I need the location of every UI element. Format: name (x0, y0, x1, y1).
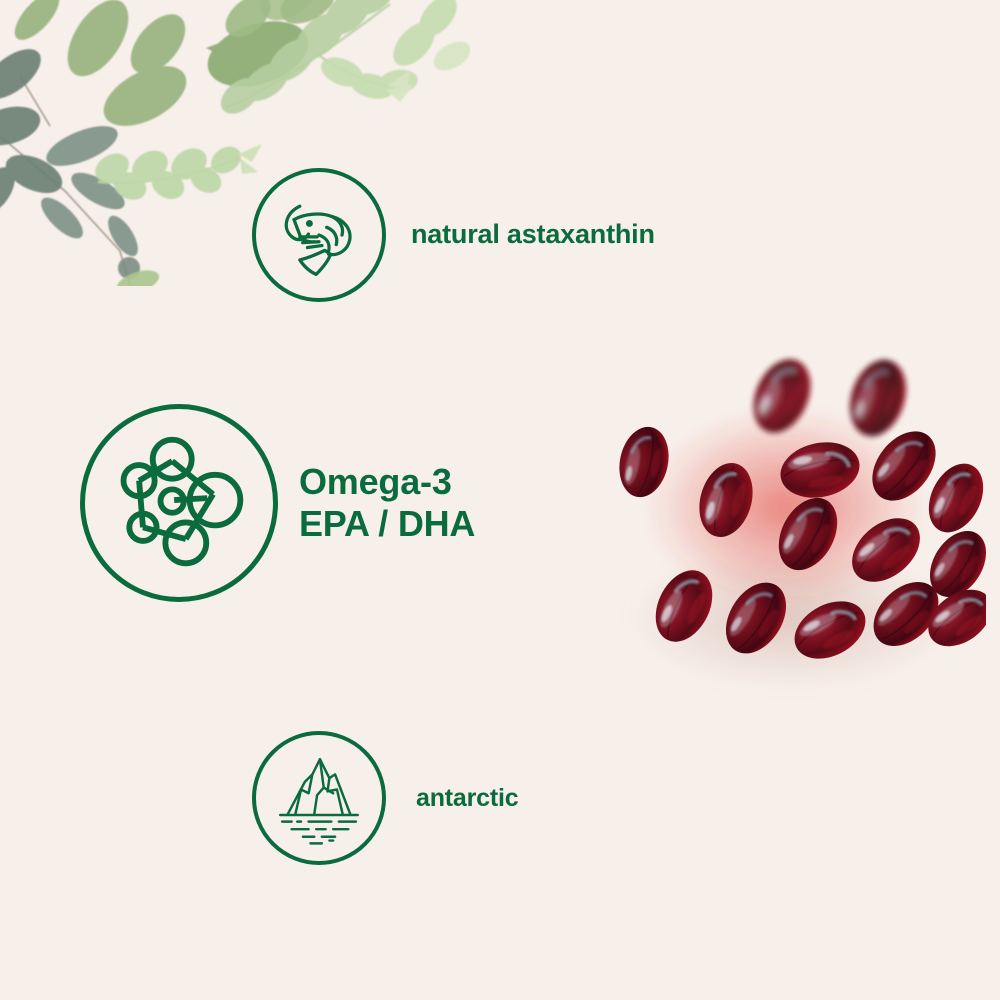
krill-icon (271, 187, 367, 283)
badge-antarctic: antarctic (252, 731, 518, 865)
badge-circle-omega (80, 404, 278, 602)
krill-oil-capsule-cluster (586, 318, 986, 718)
badge-label-astaxanthin: natural astaxanthin (411, 219, 655, 250)
iceberg-icon (267, 746, 371, 850)
badge-omega: Omega-3 EPA / DHA (80, 404, 475, 602)
badge-circle-antarctic (252, 731, 386, 865)
molecule-icon (106, 430, 252, 576)
badge-label-omega: Omega-3 EPA / DHA (299, 461, 475, 545)
badge-astaxanthin: natural astaxanthin (252, 168, 655, 302)
infographic-canvas: natural astaxanthin Omega-3 EPA / DH (0, 0, 1000, 1000)
badge-circle-astaxanthin (252, 168, 386, 302)
badge-label-antarctic: antarctic (416, 784, 518, 813)
